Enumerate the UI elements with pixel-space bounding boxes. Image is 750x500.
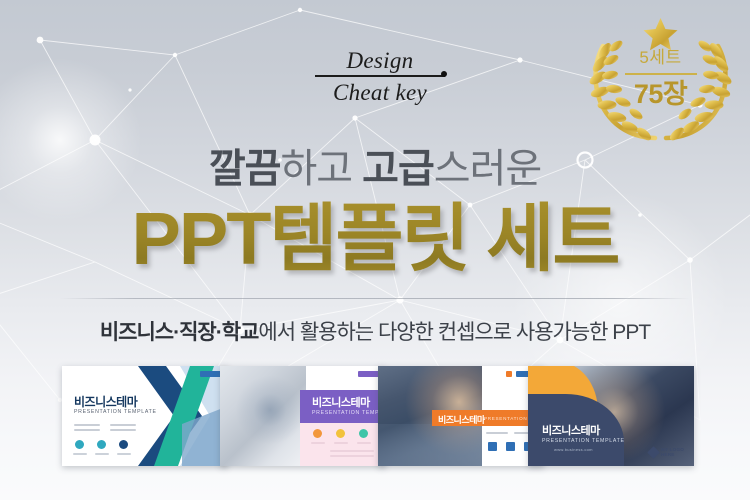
icon-caption: [334, 442, 348, 444]
thumbnail-title: 비즈니스테마: [74, 393, 137, 410]
logo-divider: [315, 75, 445, 77]
feature-icon: [336, 429, 345, 438]
thumbnail-url: www.business.com: [554, 447, 593, 452]
placeholder-line: [486, 432, 508, 434]
icon-caption: [73, 453, 87, 455]
list-item[interactable]: 비즈니스테마 PRESENTATION TEMPLATE www.busines…: [528, 366, 694, 466]
thumbnail-subtitle: PRESENTATION TEMPLATE: [542, 438, 625, 444]
star-icon: [644, 18, 678, 50]
headline-part-4: 스러운: [434, 147, 541, 191]
list-item[interactable]: 비즈니스테마 PRESENTATION TEMPLATE: [220, 366, 386, 466]
tab-marker: [200, 371, 222, 377]
thumbnail-title: 비즈니스테마: [438, 413, 485, 426]
feature-icon: [506, 442, 515, 451]
globe-photo-icon: [260, 394, 294, 428]
feature-icon: [313, 429, 322, 438]
description-bold: 비즈니스·직장·학교: [100, 321, 259, 344]
feature-icon: [488, 442, 497, 451]
tab-marker: [358, 371, 380, 377]
description-light: 에서 활용하는 다양한 컨셉으로 사용가능한 PPT: [258, 321, 650, 344]
placeholder-line: [330, 450, 374, 452]
thumbnail-title: 비즈니스테마: [542, 422, 600, 438]
logo-line-1: Design: [315, 48, 445, 74]
icon-caption: [311, 442, 325, 444]
play-icon: [506, 371, 512, 377]
list-item[interactable]: 비즈니스테마 PRESENTATION TEMPLATE: [62, 366, 228, 466]
page-title: PPT템플릿 세트: [0, 196, 750, 282]
feature-icon: [359, 429, 368, 438]
logo-text-line-2: HERE: [661, 452, 684, 457]
thumbnail-subtitle: PRESENTATION TEMPLATE: [74, 409, 157, 415]
placeholder-line: [74, 424, 100, 426]
promo-banner: Design Cheat key: [0, 0, 750, 500]
laurel-badge: 5세트 75장: [583, 6, 738, 142]
feature-icon: [97, 440, 106, 449]
list-item[interactable]: 비즈니스테마 PRESENTATION TEMPLATE: [378, 366, 544, 466]
badge-set-label: 5세트: [583, 48, 738, 68]
thumbnail-subtitle: PRESENTATION TEMPLATE: [312, 410, 386, 416]
icon-caption: [357, 442, 371, 444]
logo-line-2: Cheat key: [315, 79, 445, 106]
logo-dot-icon: [441, 71, 447, 77]
template-thumbnail-row: 비즈니스테마 PRESENTATION TEMPLATE 비즈니스테마 PRES…: [62, 366, 692, 471]
brand-logo: Design Cheat key: [315, 48, 445, 106]
placeholder-line: [74, 429, 100, 431]
icon-caption: [95, 453, 109, 455]
my-logo-badge: MY LOGO HERE: [649, 447, 684, 457]
badge-count-label: 75장: [583, 79, 738, 109]
headline: 깔끔하고 고급스러운: [0, 136, 750, 194]
feature-icon: [119, 440, 128, 449]
headline-part-3: 고급: [352, 147, 434, 191]
headline-part-1: 깔끔: [209, 147, 281, 191]
placeholder-line: [330, 455, 374, 457]
icon-caption: [117, 453, 131, 455]
placeholder-line: [110, 429, 136, 431]
chevron-graphic-icon: [62, 366, 228, 466]
placeholder-line: [110, 424, 136, 426]
diamond-logo-icon: [647, 446, 660, 459]
badge-text-group: 5세트 75장: [583, 48, 738, 109]
badge-divider: [625, 73, 697, 75]
headline-part-2: 하고: [280, 147, 352, 191]
cityscape-overlay: [378, 424, 482, 466]
feature-icon: [75, 440, 84, 449]
thumbnail-title: 비즈니스테마: [312, 394, 370, 410]
section-divider: [60, 298, 690, 299]
description: 비즈니스·직장·학교에서 활용하는 다양한 컨셉으로 사용가능한 PPT: [0, 316, 750, 346]
